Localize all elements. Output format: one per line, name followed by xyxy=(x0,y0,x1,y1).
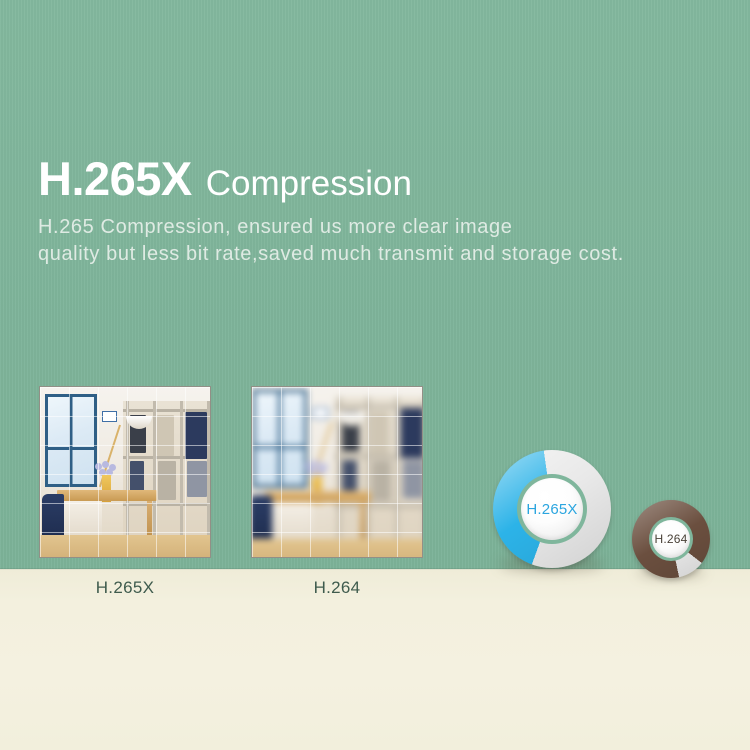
subtitle-text: H.265 Compression, ensured us more clear… xyxy=(38,214,624,268)
donut-core-big: H.265X xyxy=(521,478,583,540)
interior-scene-sharp xyxy=(40,387,211,558)
title-secondary: Compression xyxy=(206,166,412,201)
subtitle-line-1: H.265 Compression, ensured us more clear… xyxy=(38,214,624,241)
caption-h265x: H.265X xyxy=(39,578,211,598)
promo-banner: H.265X Compression H.265 Compression, en… xyxy=(0,0,750,750)
caption-h264: H.264 xyxy=(251,578,423,598)
donut-label-h264: H.264 xyxy=(654,532,687,546)
donut-label-h265x: H.265X xyxy=(526,501,577,518)
donut-chart-h265x: H.265X xyxy=(493,450,611,568)
title-primary: H.265X xyxy=(38,155,192,202)
interior-scene-blurred xyxy=(251,386,423,558)
donut-core-small: H.264 xyxy=(652,520,690,558)
comparison-image-h264 xyxy=(251,386,423,558)
page-title: H.265X Compression xyxy=(38,155,412,202)
subtitle-line-2: quality but less bit rate,saved much tra… xyxy=(38,241,624,268)
comparison-image-h265x xyxy=(39,386,211,558)
donut-chart-h264: H.264 xyxy=(632,500,710,578)
